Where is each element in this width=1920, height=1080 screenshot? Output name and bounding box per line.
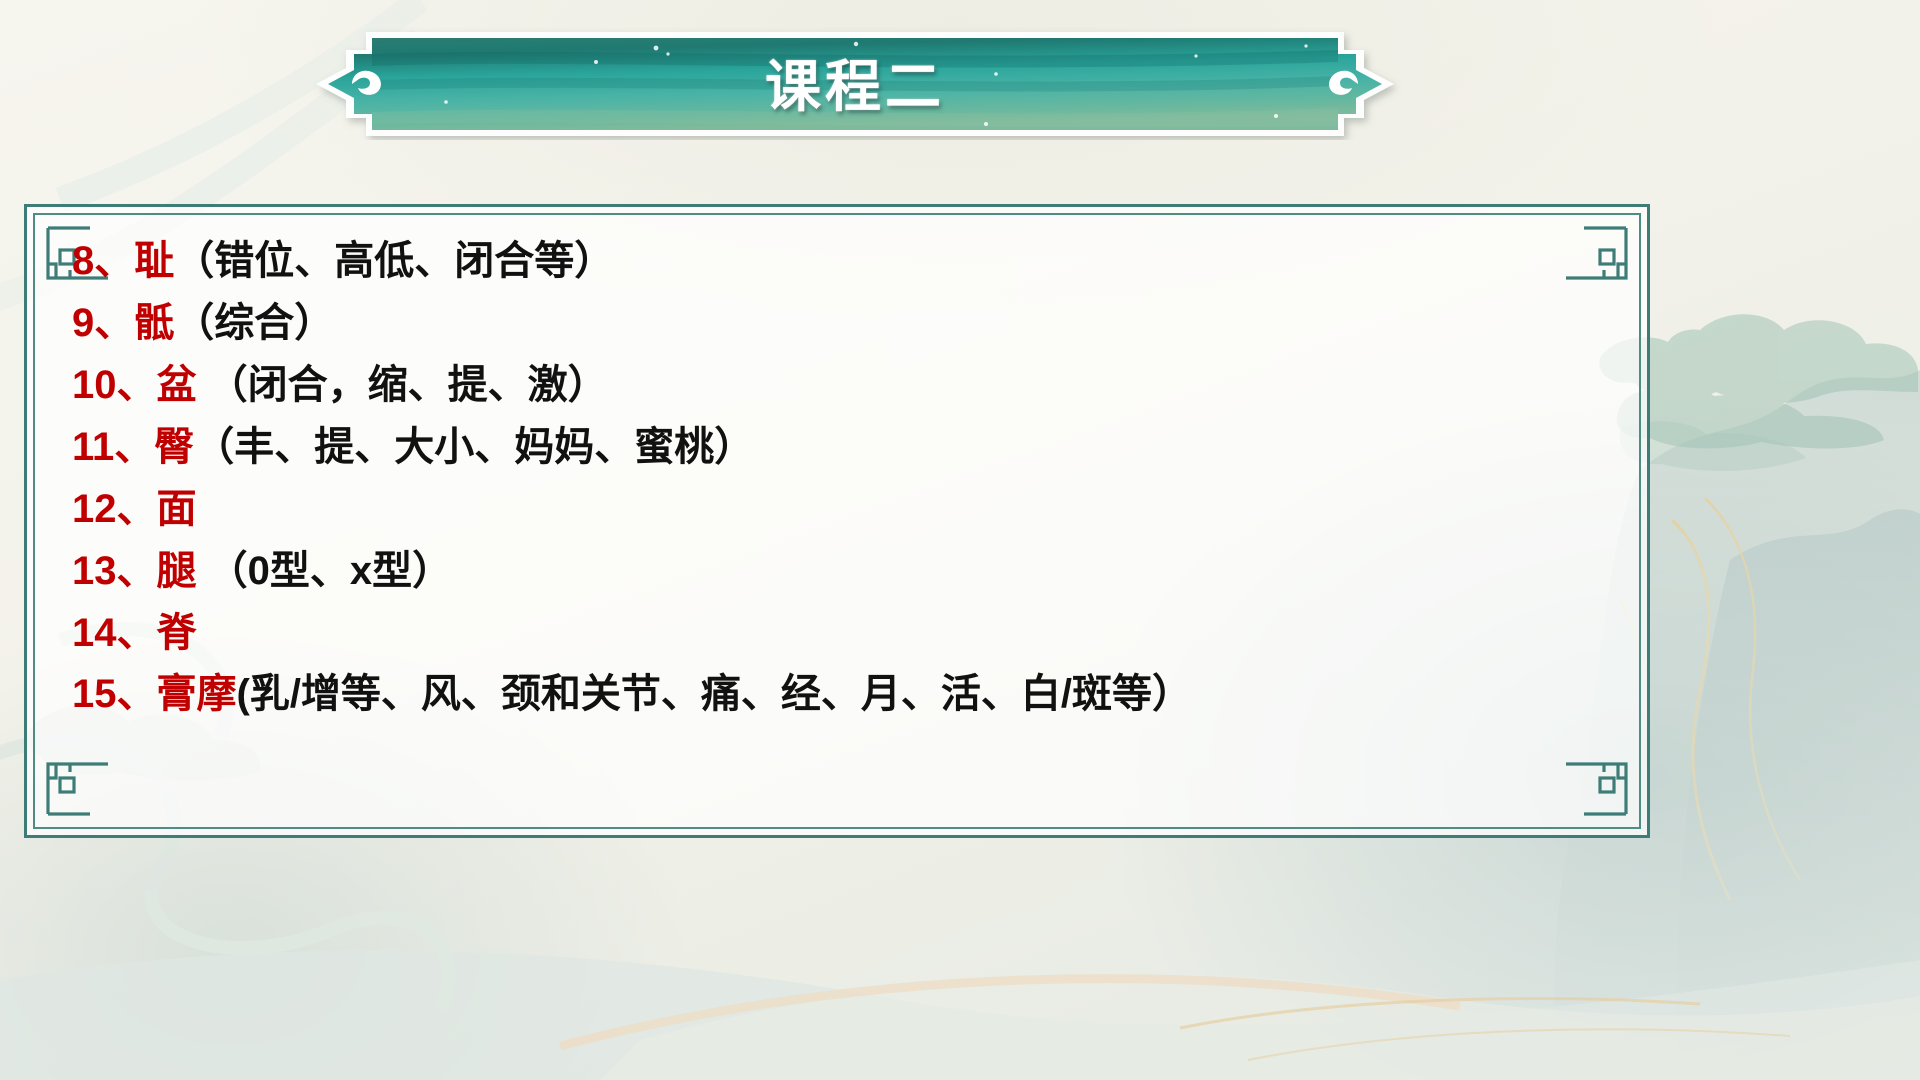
- list-item: 11、臀（丰、提、大小、妈妈、蜜桃）: [72, 416, 1620, 478]
- list-item: 10、盆 （闭合，缩、提、激）: [72, 354, 1620, 416]
- list-item-number: 12、: [72, 487, 157, 531]
- list-item: 8、耻（错位、高低、闭合等）: [72, 230, 1620, 292]
- list-item-number: 13、: [72, 549, 157, 593]
- list-item-keyword: 骶: [134, 301, 174, 345]
- list-item: 15、膏摩(乳/增等、风、颈和关节、痛、经、月、活、白/斑等）: [72, 664, 1620, 724]
- list-item-detail: （闭合，缩、提、激）: [197, 363, 608, 407]
- list-item-detail: （丰、提、大小、妈妈、蜜桃）: [194, 425, 754, 469]
- title-banner: 课程二: [296, 28, 1414, 140]
- list-item: 14、脊: [72, 602, 1620, 664]
- list-item-keyword: 膏摩: [157, 672, 237, 716]
- list-item-number: 15、: [72, 672, 157, 716]
- list-item-detail: （0型、x型）: [197, 549, 453, 593]
- list-item-keyword: 面: [157, 487, 197, 531]
- list-item-number: 14、: [72, 611, 157, 655]
- list-item-number: 11、: [72, 425, 154, 469]
- page-title: 课程二: [296, 28, 1414, 140]
- list-item-keyword: 腿: [157, 549, 197, 593]
- list-item-detail: （综合）: [174, 301, 334, 345]
- content-list: 8、耻（错位、高低、闭合等） 9、骶（综合） 10、盆 （闭合，缩、提、激） 1…: [72, 230, 1620, 818]
- list-item-keyword: 脊: [157, 611, 197, 655]
- slide-root: 课程二: [0, 0, 1920, 1080]
- list-item: 12、面: [72, 478, 1620, 540]
- list-item-detail: （错位、高低、闭合等）: [174, 239, 614, 283]
- content-frame: 8、耻（错位、高低、闭合等） 9、骶（综合） 10、盆 （闭合，缩、提、激） 1…: [24, 204, 1650, 838]
- list-item-keyword: 臀: [154, 425, 194, 469]
- list-item-number: 8、: [72, 239, 134, 283]
- list-item: 13、腿 （0型、x型）: [72, 540, 1620, 602]
- list-item-keyword: 耻: [134, 239, 174, 283]
- list-item-detail: (乳/增等、风、颈和关节、痛、经、月、活、白/斑等）: [237, 672, 1193, 716]
- list-item-keyword: 盆: [157, 363, 197, 407]
- list-item: 9、骶（综合）: [72, 292, 1620, 354]
- list-item-number: 10、: [72, 363, 157, 407]
- list-item-number: 9、: [72, 301, 134, 345]
